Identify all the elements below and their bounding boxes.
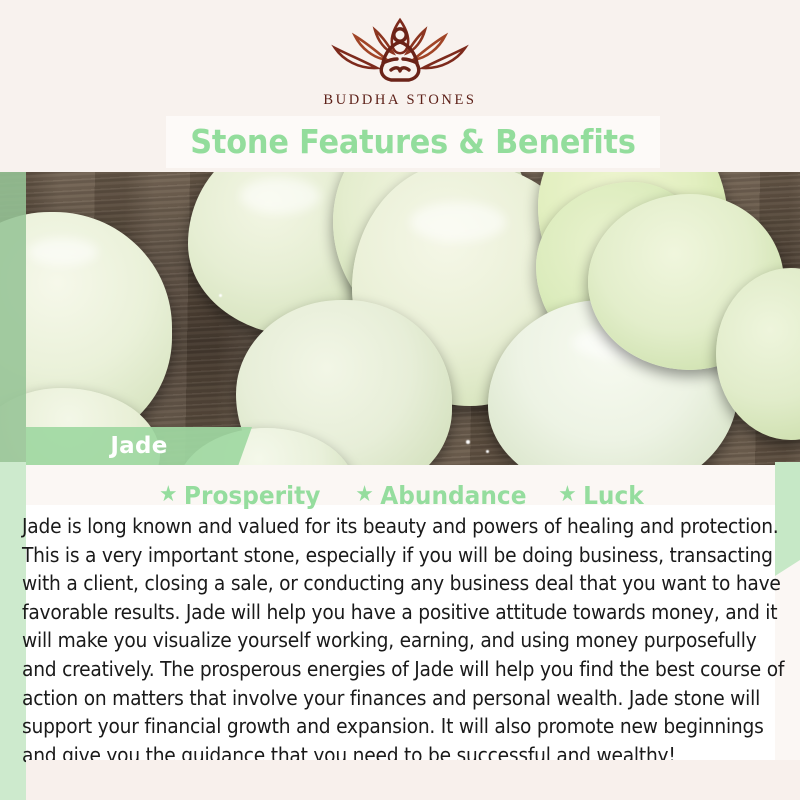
star-icon: ★ <box>558 484 576 506</box>
infographic-page: BUDDHA STONES Stone Features & Benefits <box>0 0 800 800</box>
bottom-band <box>26 760 800 800</box>
sparkle-icon <box>486 450 489 453</box>
sparkle-icon <box>219 294 222 297</box>
star-icon: ★ <box>355 484 373 506</box>
brand-name: BUDDHA STONES <box>0 92 800 109</box>
brand-logo: BUDDHA STONES <box>0 14 800 109</box>
stone-highlight <box>410 202 506 242</box>
sparkle-icon <box>466 440 470 444</box>
stone-photo <box>0 172 800 465</box>
keyword-item-luck: ★ Luck <box>558 481 643 510</box>
stone-description: Jade is long known and valued for its be… <box>22 512 786 769</box>
keyword-label: Abundance <box>380 481 526 510</box>
star-icon: ★ <box>159 484 177 506</box>
lotus-meditation-icon <box>325 14 475 88</box>
keyword-label: Luck <box>583 481 644 510</box>
page-title: Stone Features & Benefits <box>186 116 640 168</box>
keyword-item-prosperity: ★ Prosperity <box>159 481 320 510</box>
keyword-item-abundance: ★ Abundance <box>355 481 526 510</box>
green-accent-left-strip <box>0 172 26 467</box>
stone-name: Jade <box>26 427 252 465</box>
keyword-list: ★ Prosperity ★ Abundance ★ Luck <box>26 478 774 512</box>
stone-highlight <box>240 178 320 214</box>
stone-highlight <box>28 238 98 266</box>
keyword-label: Prosperity <box>184 481 320 510</box>
